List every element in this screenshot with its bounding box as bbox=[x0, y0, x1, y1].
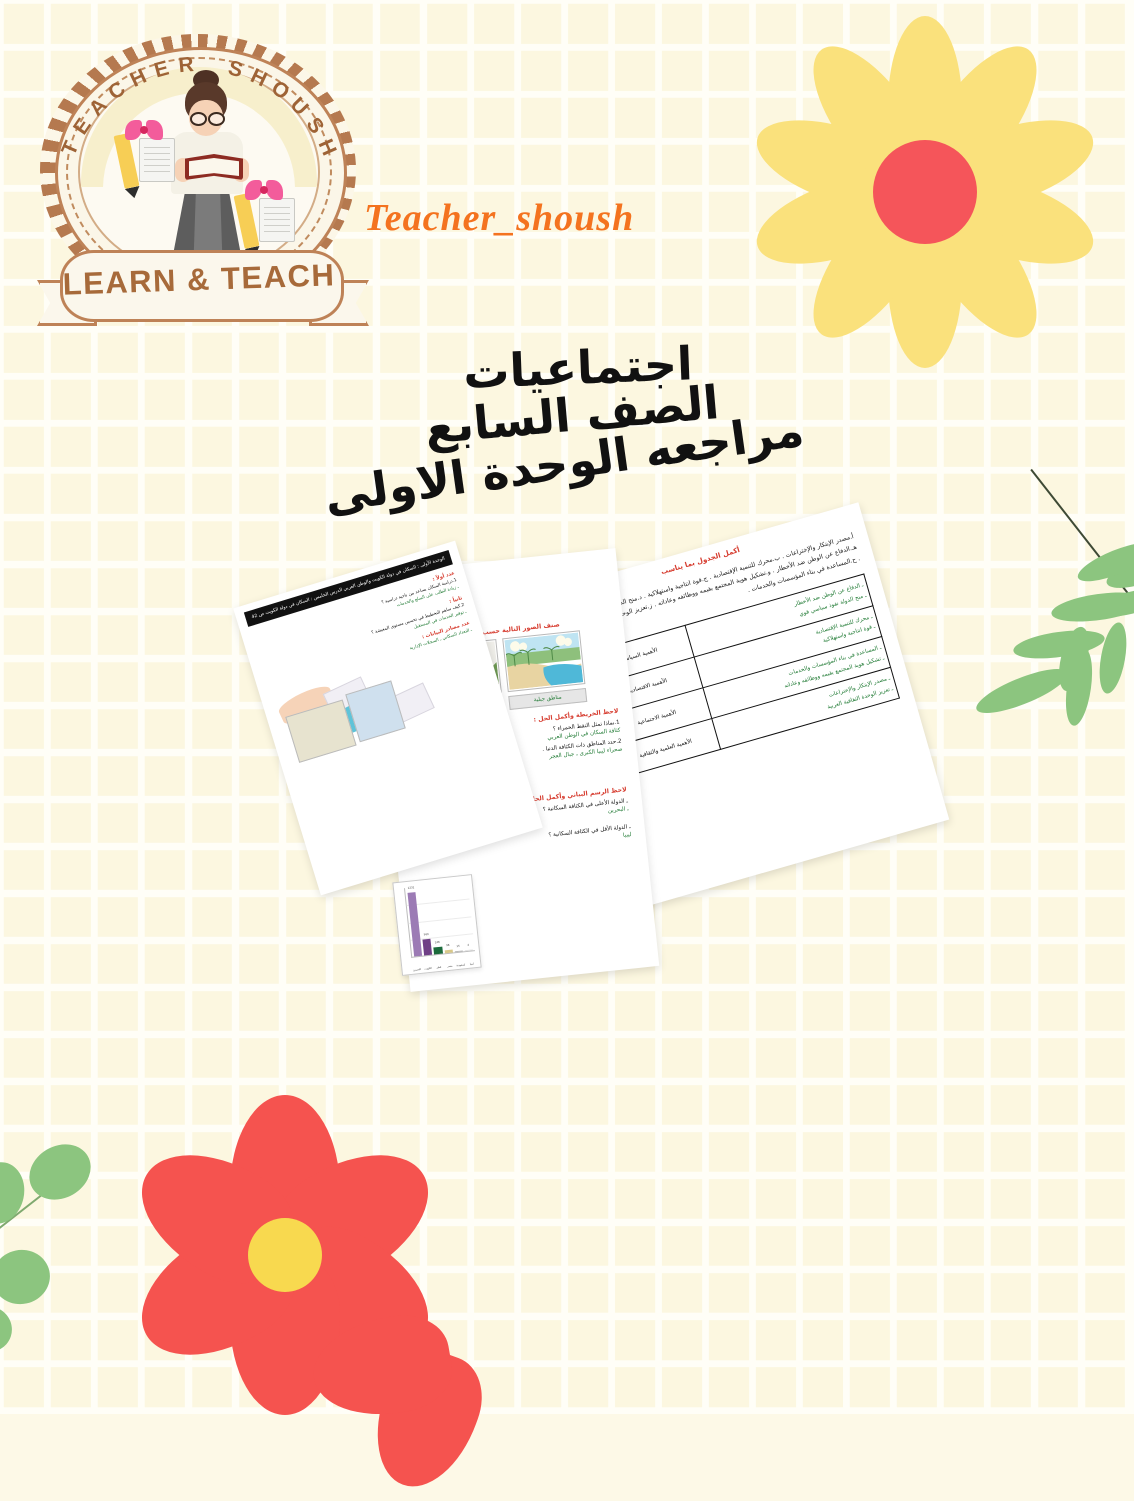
chart-bar-value-label: 2232 bbox=[403, 886, 419, 891]
notepad-icon bbox=[139, 138, 175, 182]
chart-x-label: السعودية bbox=[456, 963, 465, 967]
chart-x-label: ليبيا bbox=[467, 962, 476, 966]
flower-center-icon bbox=[248, 1218, 322, 1292]
bow-icon bbox=[245, 180, 283, 200]
chart-x-label: الكويت bbox=[423, 967, 432, 971]
chart-bar: 98 bbox=[444, 950, 452, 954]
red-flower-partial-decoration bbox=[330, 1235, 570, 1475]
beach-scenery-image bbox=[502, 630, 585, 692]
bow-icon bbox=[125, 120, 163, 140]
brand-handle-text: Teacher_shoush bbox=[364, 196, 634, 240]
label-mountain-region: مناطق جبلية bbox=[508, 688, 587, 710]
chart-x-label: البحرين bbox=[412, 968, 421, 972]
leaf-branch-left-decoration bbox=[0, 1140, 128, 1340]
chart-x-label: قطر bbox=[434, 966, 443, 970]
glasses-left-lens-icon bbox=[190, 112, 207, 126]
glasses-right-lens-icon bbox=[208, 112, 225, 126]
chart-x-label: مصر bbox=[445, 964, 454, 968]
chart-bar: 2232 bbox=[407, 892, 422, 957]
chart-bar-value-label: 4 bbox=[460, 943, 476, 948]
fern-branch-right-upper-decoration bbox=[1055, 540, 1134, 690]
chart-bar-value-label: 560 bbox=[418, 932, 434, 937]
chart-plot-area: 223256024698154 bbox=[404, 882, 475, 958]
notepad-icon bbox=[259, 198, 295, 242]
flower-center-icon bbox=[873, 140, 977, 244]
chart-bar: 15 bbox=[455, 951, 463, 953]
page-title: اجتماعيات الصف السابع مراجعه الوحدة الاو… bbox=[270, 345, 870, 486]
population-density-bar-chart: 223256024698154 البحرينالكويتقطرمصرالسعو… bbox=[392, 874, 481, 976]
chart-bar: 4 bbox=[465, 950, 473, 952]
teacher-shoush-logo: TEACHER SHOUSH LEARN & TEACH bbox=[33, 12, 366, 334]
